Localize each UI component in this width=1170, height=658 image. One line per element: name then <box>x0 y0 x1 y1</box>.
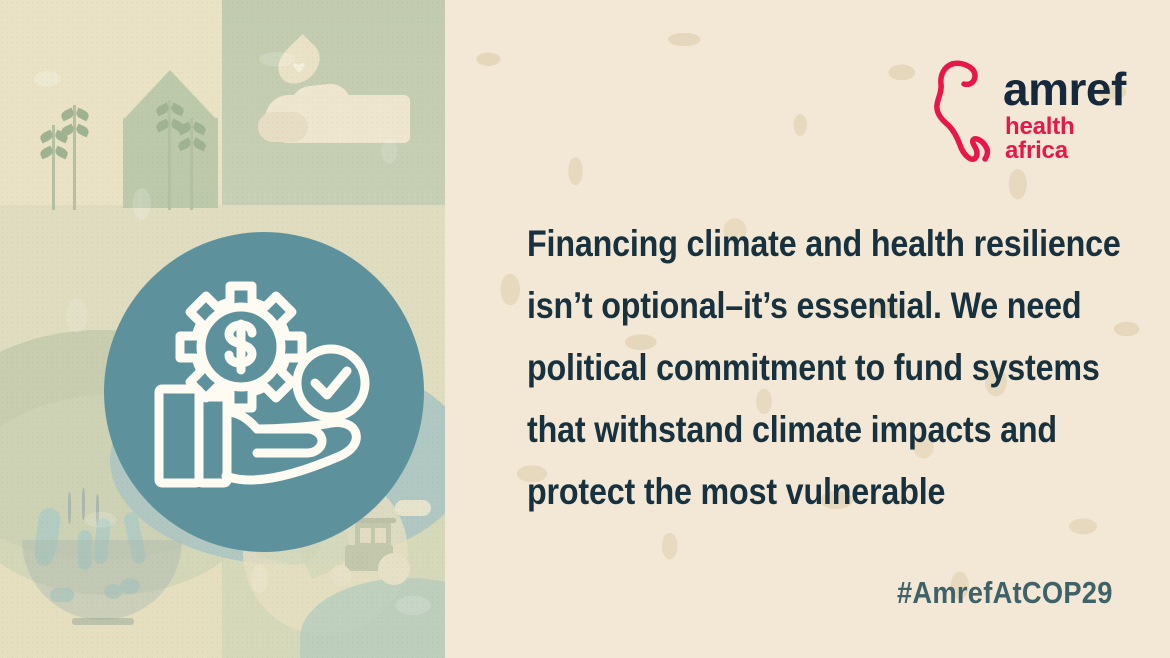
wheat-icon <box>73 105 76 210</box>
wheat-icon <box>190 118 193 210</box>
wheat-icon <box>52 125 55 210</box>
tractor-wheel <box>378 553 410 585</box>
headline-line: political commitment to fund systems <box>527 336 1043 398</box>
amref-logo[interactable]: amref health africa <box>930 58 1115 170</box>
social-card: amref health africa Financing climate an… <box>0 0 1170 658</box>
headline-line: that withstand climate impacts and <box>527 398 1043 460</box>
campaign-hashtag: #AmrefAtCOP29 <box>897 575 1113 611</box>
hand-holding-money-gear-glyph <box>104 232 424 552</box>
food-bowl-base <box>72 618 134 625</box>
wheat-icon <box>168 100 171 210</box>
headline-line: isn’t optional–it’s essential. We need <box>527 274 1043 336</box>
headline-line: Financing climate and health resilience <box>527 212 1043 274</box>
logo-wordmark: amref <box>1003 66 1126 112</box>
africa-outline-icon <box>930 58 1000 170</box>
tractor-wheel <box>330 565 351 586</box>
headline-text: Financing climate and health resilience … <box>527 212 1043 522</box>
steam-icon <box>82 488 85 520</box>
logo-tagline: health africa <box>1005 115 1115 163</box>
steam-icon <box>68 492 71 524</box>
hand-fingers-icon <box>258 112 308 142</box>
headline-line: protect the most vulnerable <box>527 460 1043 522</box>
